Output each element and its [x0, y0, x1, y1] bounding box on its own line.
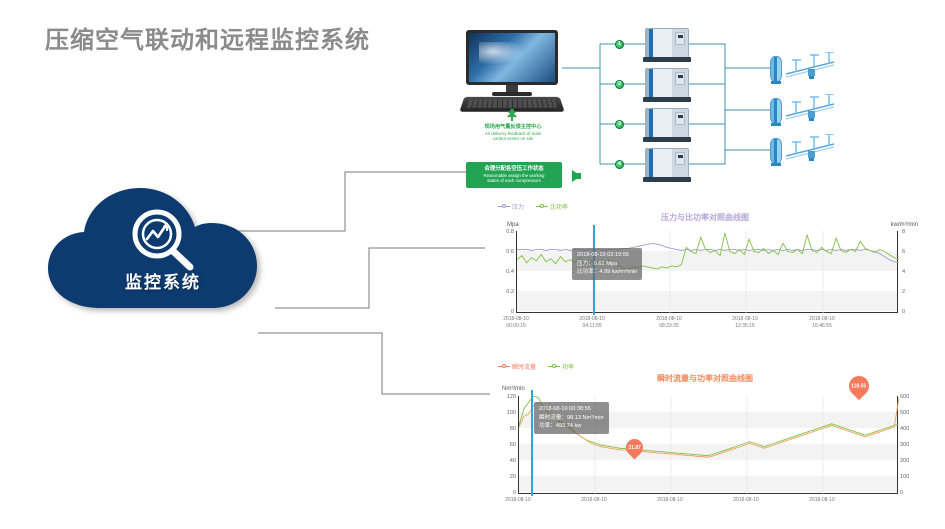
chart1-xtick-3: 2018-08-10 12:35:15	[715, 316, 775, 329]
xtick-time: 12:35:15	[715, 323, 775, 330]
chart2-xtick-4: 2018-08-10	[792, 497, 852, 504]
chart1-tooltip-time: 2018-08-10 02:19:55	[577, 251, 637, 260]
compressor-3[interactable]	[645, 108, 689, 142]
xtick-date: 2018-08-10	[792, 497, 852, 504]
compressor-foot	[643, 177, 691, 182]
chart1-xtick-2: 2018-08-10 08:23:35	[639, 316, 699, 329]
chart2-crosshair	[531, 390, 533, 496]
cloud-label: 监控系统	[38, 268, 288, 293]
chart1-tooltip: 2018-08-10 02:19:55 压力：0.61 Mpa 比功率：4.99…	[572, 248, 642, 280]
tank-foot	[771, 81, 781, 84]
chart1-y-unit: Mpa	[507, 222, 519, 228]
xtick-date: 2018-08-10	[564, 497, 624, 504]
node-1[interactable]: 1	[615, 40, 624, 49]
chart1-y2-unit: kw/m³/min	[891, 222, 918, 228]
marker-label: 31.87	[628, 445, 641, 451]
compressor-foot	[643, 57, 691, 62]
legend-label: 压力	[512, 202, 524, 211]
chart1-y2tick-1: 6	[902, 249, 918, 255]
node-3[interactable]: 3	[615, 120, 624, 129]
tank-body	[770, 98, 782, 124]
xtick-time: 16:46:55	[792, 323, 852, 330]
chart1-xtick-0: 2018-08-10 00:00:15	[486, 316, 546, 329]
chart1-y2tick-4: 0	[902, 309, 918, 315]
xtick-time: 00:00:15	[486, 323, 546, 330]
pipeline-group-2	[784, 94, 838, 124]
green-box-en-2: states of each compressors	[466, 178, 562, 184]
chart1-tooltip-line1: 压力：0.61 Mpa	[577, 260, 637, 269]
xtick-date: 2018-08-10	[716, 497, 776, 504]
chart2-ytick-3: 60	[492, 442, 516, 448]
legend-label: 比功率	[550, 202, 568, 211]
chart2-ytick-5: 20	[492, 474, 516, 480]
chart1-ytick-3: 0.2	[492, 289, 514, 295]
chart1-tooltip-line2: 比功率：4.99 kw/m³/min	[577, 268, 637, 277]
chart1-legend: 压力 比功率	[498, 202, 568, 211]
magnifier-chart-icon	[124, 206, 204, 276]
chart1-xtick-4: 2018-08-10 16:46:55	[792, 316, 852, 329]
compressor-panel	[675, 32, 685, 45]
chart2-y2tick-2: 400	[900, 426, 920, 432]
chart1-ytick-1: 0.6	[492, 249, 514, 255]
tank-foot	[771, 123, 781, 126]
chart2-ytick-0: 120	[492, 394, 516, 400]
flow-power-chart: 瞬时流量 功率 瞬时流量与功率对照曲线图 Nm³/min 120 100 80 …	[490, 360, 920, 529]
legend-item-specific-power[interactable]: 比功率	[536, 202, 568, 211]
chart2-tooltip: 2018-08-10 00:38:55 瞬时流量：98.13 Nm³/min 功…	[534, 402, 609, 434]
monitoring-cloud[interactable]: 监控系统	[38, 182, 288, 322]
marker-label: 118.55	[851, 383, 866, 389]
chart1-title: 压力与比功率对照曲线图	[490, 212, 920, 223]
chart1-y2tick-2: 4	[902, 269, 918, 275]
compressor-panel	[675, 72, 685, 85]
xtick-time: 08:23:35	[639, 323, 699, 330]
legend-item-flow[interactable]: 瞬时流量	[498, 362, 536, 371]
legend-marker	[498, 204, 510, 210]
chart1-ytick-2: 0.4	[492, 269, 514, 275]
monitor-screen	[466, 30, 558, 85]
legend-label: 功率	[562, 362, 574, 371]
tank-body	[770, 138, 782, 164]
chart2-xtick-0: 2018-08-10	[488, 497, 548, 504]
control-center-monitor	[462, 30, 562, 118]
chart2-ytick-2: 80	[492, 426, 516, 432]
slide-canvas: 压缩空气联动和远程监控系统 监控系统	[0, 0, 945, 529]
legend-item-power[interactable]: 功率	[548, 362, 574, 371]
tank-foot	[771, 163, 781, 166]
compressor-panel	[675, 152, 685, 165]
compressor-2[interactable]	[645, 68, 689, 102]
pipeline-group-3	[784, 134, 838, 164]
chart1-y2tick-3: 2	[902, 289, 918, 295]
xtick-date: 2018-08-10	[640, 497, 700, 504]
system-topology-diagram: 现场用气量反馈主控中心 Air delivery feedback of mai…	[440, 22, 940, 202]
compressor-1[interactable]	[645, 28, 689, 62]
chart2-ytick-1: 100	[492, 410, 516, 416]
chart2-tooltip-line1: 瞬时流量：98.13 Nm³/min	[539, 414, 604, 423]
chart1-xtick-1: 2018-08-10 04:11:55	[562, 316, 622, 329]
chart2-ytick-6: 0	[492, 490, 516, 496]
chart1-ytick-0: 0.8	[492, 229, 514, 235]
node-2[interactable]: 2	[615, 80, 624, 89]
monitor-base	[492, 92, 532, 96]
chart2-legend: 瞬时流量 功率	[498, 362, 574, 371]
tree-icon	[506, 108, 518, 122]
air-tank-3	[770, 136, 782, 166]
chart2-y-unit: Nm³/min	[502, 386, 525, 392]
pressure-power-chart: 压力 比功率 压力与比功率对照曲线图 Mpa kw/m³/min 0.8 0.6…	[490, 200, 920, 340]
air-tank-1	[770, 54, 782, 84]
chart1-ytick-4: 0	[492, 309, 514, 315]
green-box-cn: 合理分配各空压工作状态	[466, 166, 562, 173]
chart2-y2tick-1: 500	[900, 410, 920, 416]
xtick-date: 2018-08-10	[488, 497, 548, 504]
node-4[interactable]: 4	[615, 160, 624, 169]
chart2-y2tick-5: 100	[900, 474, 920, 480]
compressor-panel	[675, 112, 685, 125]
chart1-y2tick-0: 8	[902, 229, 918, 235]
pipeline-group-1	[784, 52, 838, 82]
chart2-tooltip-line2: 功率：493.74 kw	[539, 422, 604, 431]
chart2-y2tick-4: 200	[900, 458, 920, 464]
legend-item-pressure[interactable]: 压力	[498, 202, 524, 211]
legend-label: 瞬时流量	[512, 362, 536, 371]
tank-body	[770, 56, 782, 82]
assign-states-callout: 合理分配各空压工作状态 Reasonable assign the workin…	[466, 162, 562, 188]
chart2-tooltip-time: 2018-08-10 00:38:55	[539, 405, 604, 414]
compressor-foot	[643, 137, 691, 142]
air-tank-2	[770, 96, 782, 126]
chart2-xtick-1: 2018-08-10	[564, 497, 624, 504]
chart2-xtick-3: 2018-08-10	[716, 497, 776, 504]
legend-marker	[548, 364, 560, 370]
green-arrow-icon	[572, 170, 581, 182]
legend-marker	[498, 364, 510, 370]
compressor-foot	[643, 97, 691, 102]
compressor-4[interactable]	[645, 148, 689, 182]
site-note-en-2: control center on site	[460, 136, 566, 142]
chart2-ytick-4: 40	[492, 458, 516, 464]
chart2-y2tick-6: 0	[900, 490, 920, 496]
chart2-y2tick-3: 300	[900, 442, 920, 448]
page-title: 压缩空气联动和远程监控系统	[45, 20, 370, 55]
legend-marker	[536, 204, 548, 210]
chart2-xtick-2: 2018-08-10	[640, 497, 700, 504]
site-feedback-note: 现场用气量反馈主控中心 Air delivery feedback of mai…	[460, 124, 566, 142]
chart2-y2tick-0: 600	[900, 394, 920, 400]
xtick-time: 04:11:55	[562, 323, 622, 330]
